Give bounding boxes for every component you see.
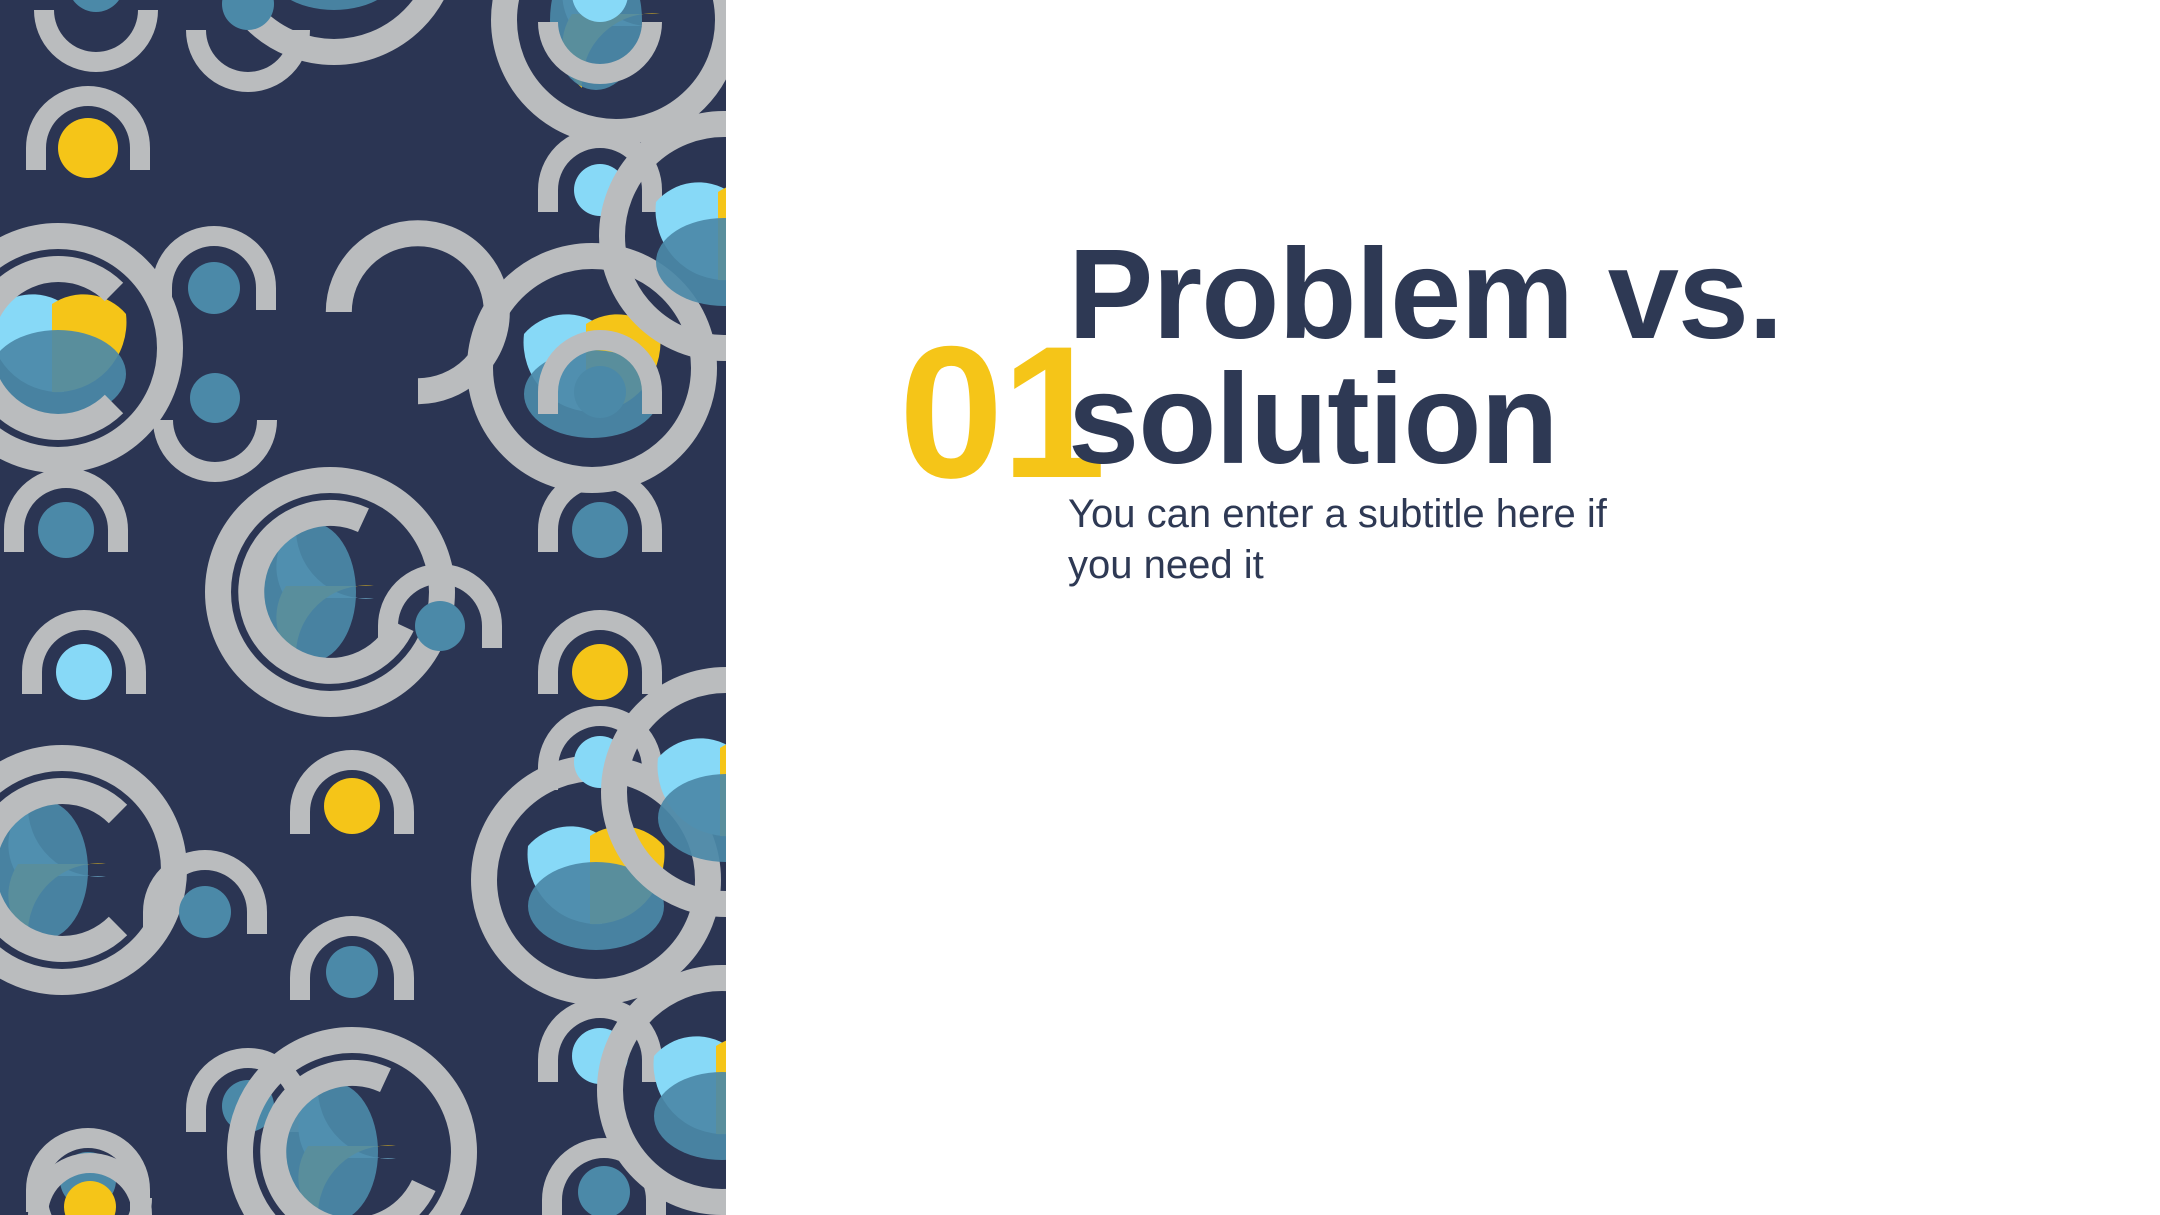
slide-content: 01 Problem vs. solution You can enter a … (726, 0, 2160, 1215)
slide-root: 01 Problem vs. solution You can enter a … (0, 0, 2160, 1215)
headline-row: 01 Problem vs. solution You can enter a … (726, 0, 2160, 1215)
decorative-pattern-panel (0, 0, 726, 1215)
title-block: Problem vs. solution You can enter a sub… (1068, 232, 1788, 591)
section-index-number: 01 (814, 318, 1104, 506)
page-subtitle: You can enter a subtitle here if you nee… (1068, 489, 1668, 591)
page-title: Problem vs. solution (1068, 232, 1788, 483)
geometric-circles-pattern-svg (0, 0, 726, 1215)
